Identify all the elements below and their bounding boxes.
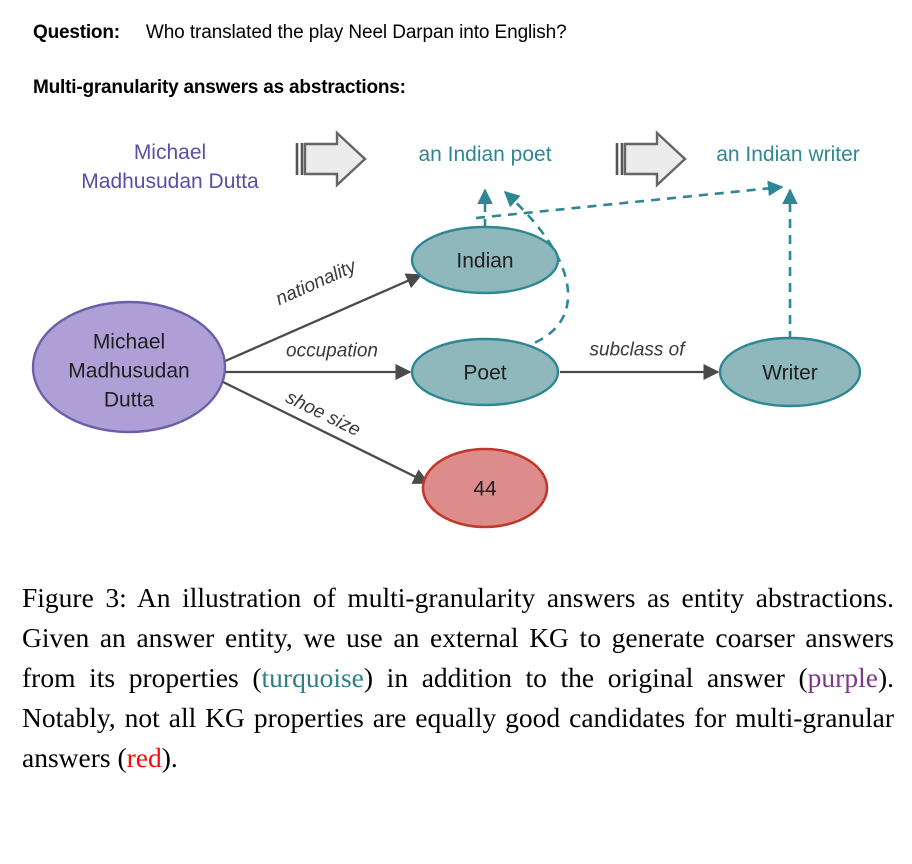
caption-red-word: red — [127, 742, 162, 773]
edge-shoe-size — [223, 382, 428, 483]
edge-label-shoe-size: shoe size — [282, 387, 363, 441]
node-indian-label: Indian — [456, 250, 513, 273]
edge-label-subclass-of: subclass of — [589, 340, 686, 361]
node-indian[interactable]: Indian — [412, 227, 558, 293]
node-writer-label: Writer — [762, 362, 818, 385]
knowledge-graph: Michael Madhusudan Dutta Indian Poet Wri… — [0, 0, 912, 560]
node-entity-label-line1: Michael — [93, 331, 165, 354]
node-shoe-size[interactable]: 44 — [423, 449, 547, 527]
figure-caption: Figure 3: An illustration of multi-granu… — [22, 578, 894, 778]
caption-mid1: ) in addition to the original answer ( — [364, 662, 808, 693]
node-entity-label-line2: Madhusudan — [68, 360, 189, 383]
node-writer[interactable]: Writer — [720, 338, 860, 406]
node-poet-label: Poet — [463, 362, 506, 385]
caption-suffix: ). — [162, 742, 178, 773]
caption-turquoise-word: turquoise — [262, 662, 364, 693]
node-entity-label-line3: Dutta — [104, 389, 155, 412]
edge-label-nationality: nationality — [273, 255, 361, 310]
node-poet[interactable]: Poet — [412, 339, 558, 405]
caption-purple-word: purple — [808, 662, 878, 693]
edge-label-occupation: occupation — [286, 341, 378, 362]
node-shoe-size-label: 44 — [473, 478, 497, 501]
abstraction-link-indian-to-writer-phrase — [476, 187, 782, 218]
node-entity[interactable]: Michael Madhusudan Dutta — [33, 302, 225, 432]
